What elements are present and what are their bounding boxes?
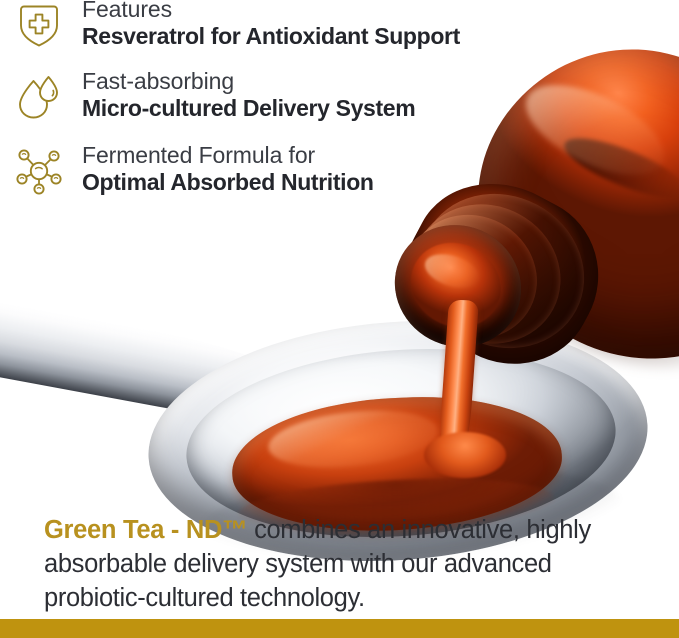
feature-text-block: Features Resveratrol for Antioxidant Sup…: [82, 0, 460, 51]
gold-footer-bar: [0, 619, 679, 638]
brand-name: Green Tea - ND™: [44, 516, 247, 544]
feature-item-resveratrol: Features Resveratrol for Antioxidant Sup…: [0, 0, 560, 52]
feature-item-fermented: Fermented Formula for Optimal Absorbed N…: [0, 142, 560, 198]
feature-item-delivery: Fast-absorbing Micro-cultured Delivery S…: [0, 68, 560, 124]
feature-bottom-line: Optimal Absorbed Nutrition: [82, 169, 374, 197]
molecule-network-icon: [12, 144, 66, 198]
feature-top-line: Fermented Formula for: [82, 142, 374, 169]
feature-bottom-line: Micro-cultured Delivery System: [82, 95, 415, 123]
product-feature-panel: Features Resveratrol for Antioxidant Sup…: [0, 0, 679, 638]
feature-list: Features Resveratrol for Antioxidant Sup…: [0, 0, 560, 198]
product-description: Green Tea - ND™ combines an innovative, …: [44, 514, 640, 616]
feature-top-line: Features: [82, 0, 460, 23]
shield-cross-icon: [12, 0, 66, 52]
feature-bottom-line: Resveratrol for Antioxidant Support: [82, 23, 460, 51]
feature-top-line: Fast-absorbing: [82, 68, 415, 95]
feature-text-block: Fast-absorbing Micro-cultured Delivery S…: [82, 68, 415, 123]
feature-text-block: Fermented Formula for Optimal Absorbed N…: [82, 142, 374, 197]
water-droplets-icon: [12, 70, 66, 124]
liquid-splash: [424, 432, 506, 478]
